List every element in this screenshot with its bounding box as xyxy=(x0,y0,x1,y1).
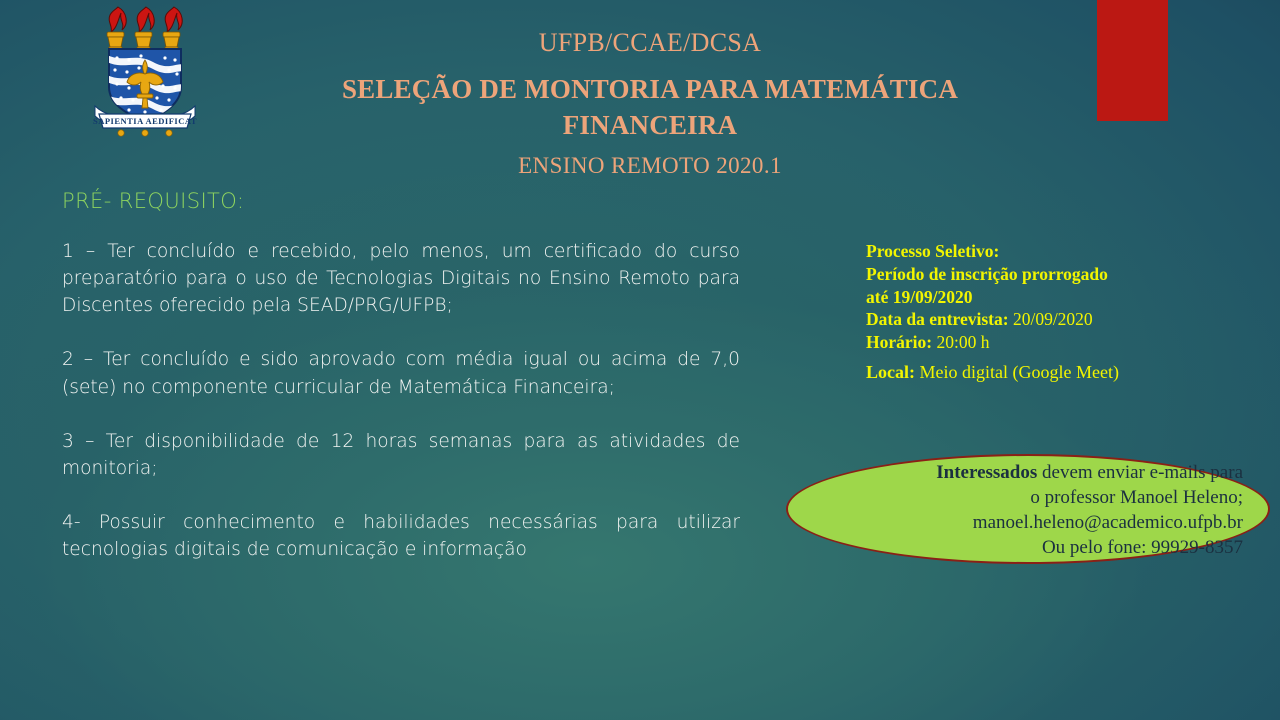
contact-line-1-rest: devem enviar e-mails para xyxy=(1037,462,1243,483)
slide-canvas: SAPIENTIA AEDIFICAT UFPB/CCAE/DCSA SELEÇ… xyxy=(0,0,1280,720)
prerequisite-item-2: 2 – Ter concluído e sido aprovado com mé… xyxy=(62,346,740,400)
interview-place-label: Local: xyxy=(866,362,915,382)
prerequisite-item-4: 4- Possuir conhecimento e habilidades ne… xyxy=(62,509,740,563)
page-subtitle: ENSINO REMOTO 2020.1 xyxy=(230,153,1070,179)
interview-time-row: Horário: 20:00 h xyxy=(866,331,1266,354)
prerequisites-list: 1 – Ter concluído e recebido, pelo menos… xyxy=(62,238,740,563)
prerequisites-label: PRÉ- REQUISITO: xyxy=(62,189,244,213)
registration-period-row: Período de inscrição prorrogado xyxy=(866,263,1266,286)
red-accent-rectangle xyxy=(1097,0,1168,121)
interview-place-value: Meio digital (Google Meet) xyxy=(920,362,1119,382)
registration-period-label: Período de inscrição prorrogado xyxy=(866,264,1108,284)
contact-line-2: o professor Manoel Heleno; xyxy=(806,486,1243,511)
interview-time-value: 20:00 h xyxy=(936,332,989,352)
institution-line: UFPB/CCAE/DCSA xyxy=(230,28,1070,58)
page-title: SELEÇÃO DE MONTORIA PARA MATEMÁTICA FINA… xyxy=(230,72,1070,143)
process-heading: Processo Seletivo: xyxy=(866,240,1266,263)
interview-date-label: Data da entrevista: xyxy=(866,309,1009,329)
ufpb-logo-icon: SAPIENTIA AEDIFICAT xyxy=(77,2,213,142)
logo-motto-text: SAPIENTIA AEDIFICAT xyxy=(93,116,197,126)
interview-place-row: Local: Meio digital (Google Meet) xyxy=(866,361,1266,384)
page-header: UFPB/CCAE/DCSA SELEÇÃO DE MONTORIA PARA … xyxy=(230,28,1070,180)
contact-phone: Ou pelo fone: 99929-8357 xyxy=(806,536,1243,561)
contact-email: manoel.heleno@academico.ufpb.br xyxy=(806,511,1243,536)
interview-date-value: 20/09/2020 xyxy=(1013,309,1093,329)
contact-lead-word: Interessados xyxy=(936,462,1037,483)
selection-process-info: Processo Seletivo: Período de inscrição … xyxy=(866,240,1266,384)
registration-deadline-row: até 19/09/2020 xyxy=(866,286,1266,309)
registration-deadline-value: até 19/09/2020 xyxy=(866,287,972,307)
prerequisite-item-1: 1 – Ter concluído e recebido, pelo menos… xyxy=(62,238,740,319)
contact-line-1: Interessados devem enviar e-mails para xyxy=(806,461,1243,486)
contact-callout-text: Interessados devem enviar e-mails para o… xyxy=(806,461,1243,561)
prerequisite-item-3: 3 – Ter disponibilidade de 12 horas sema… xyxy=(62,428,740,482)
process-heading-text: Processo Seletivo: xyxy=(866,241,999,261)
interview-date-row: Data da entrevista: 20/09/2020 xyxy=(866,308,1266,331)
interview-time-label: Horário: xyxy=(866,332,932,352)
